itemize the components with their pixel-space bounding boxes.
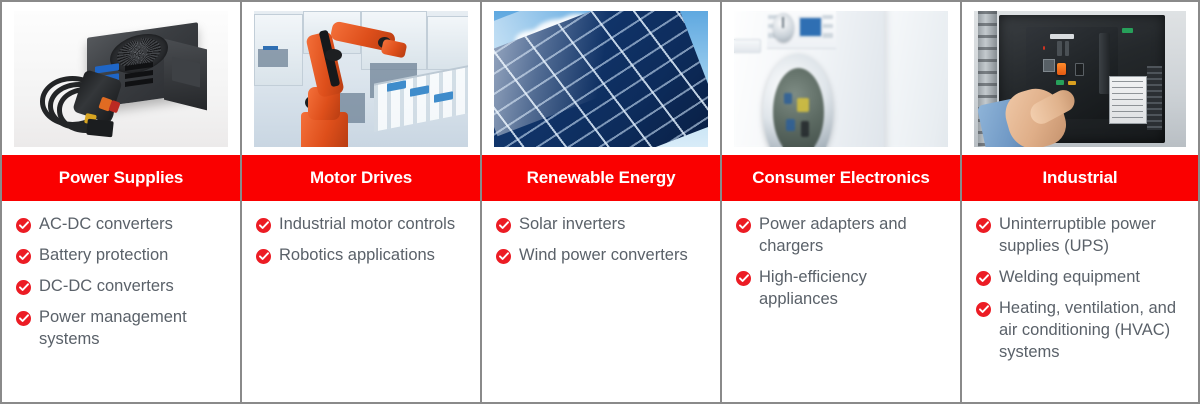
washing-machine-body	[734, 11, 884, 147]
detergent-drawer	[734, 39, 761, 53]
list-item-label: Power management systems	[39, 307, 230, 351]
list-item-label: High-efficiency appliances	[759, 267, 950, 311]
factory-machine	[427, 16, 468, 70]
motor-drives-photo	[254, 11, 468, 147]
photo-cell	[962, 2, 1198, 155]
list-item-label: Solar inverters	[519, 214, 710, 236]
list-item-label: Battery protection	[39, 245, 230, 267]
bullet-list-cell: Power adapters and chargers High-efficie…	[722, 201, 960, 402]
photo-cell	[722, 2, 960, 155]
check-circle-icon	[16, 280, 31, 295]
indicator-strip	[263, 46, 278, 50]
application-column-power-supplies: Power Supplies AC-DC converters Battery …	[0, 2, 240, 402]
check-circle-icon	[736, 218, 751, 233]
robot-arm-joint	[325, 49, 342, 61]
application-column-motor-drives: Motor Drives Industrial motor controls R…	[240, 2, 480, 402]
bullet-list: Industrial motor controls Robotics appli…	[256, 214, 470, 267]
list-item-label: AC-DC converters	[39, 214, 230, 236]
washing-machine-door	[763, 54, 833, 147]
check-circle-icon	[256, 249, 271, 264]
bullet-list: AC-DC converters Battery protection DC-D…	[16, 214, 230, 351]
faceplate-label-strip	[1050, 34, 1074, 39]
laundry-item	[801, 121, 809, 137]
application-column-industrial: Industrial Uninterruptible power supplie…	[960, 2, 1200, 402]
applications-grid: Power Supplies AC-DC converters Battery …	[0, 0, 1200, 404]
photo-cell	[482, 2, 720, 155]
list-item-label: Heating, ventilation, and air conditioni…	[999, 298, 1188, 364]
status-indicator	[1043, 46, 1046, 50]
laundry-item	[784, 93, 792, 104]
psu-black-connector	[86, 118, 113, 137]
list-item: Power management systems	[16, 307, 230, 351]
check-circle-icon	[496, 249, 511, 264]
faceplate-slot	[1065, 41, 1070, 56]
bullet-list: Power adapters and chargers High-efficie…	[736, 214, 950, 311]
rating-label	[1109, 76, 1147, 124]
rating-label-text	[1112, 81, 1143, 120]
bullet-list: Solar inverters Wind power converters	[496, 214, 710, 267]
list-item-label: Robotics applications	[279, 245, 470, 267]
list-item: DC-DC converters	[16, 276, 230, 298]
check-circle-icon	[496, 218, 511, 233]
list-item-label: Welding equipment	[999, 267, 1188, 289]
list-item: Battery protection	[16, 245, 230, 267]
list-item-label: Wind power converters	[519, 245, 710, 267]
industrial-photo	[974, 11, 1186, 147]
column-header-power-supplies: Power Supplies	[2, 155, 240, 201]
green-label-tag	[1122, 28, 1134, 33]
check-circle-icon	[976, 271, 991, 286]
list-item: Power adapters and chargers	[736, 214, 950, 258]
list-item: Industrial motor controls	[256, 214, 470, 236]
column-header-motor-drives: Motor Drives	[242, 155, 480, 201]
column-header-industrial: Industrial	[962, 155, 1198, 201]
control-button	[822, 24, 833, 29]
check-circle-icon	[976, 218, 991, 233]
bullet-list: Uninterruptible power supplies (UPS) Wel…	[976, 214, 1188, 364]
check-circle-icon	[16, 311, 31, 326]
bullet-list-cell: AC-DC converters Battery protection DC-D…	[2, 201, 240, 402]
photo-cell	[242, 2, 480, 155]
control-button	[822, 15, 833, 20]
photo-cell	[2, 2, 240, 155]
laundry-item	[786, 119, 795, 130]
check-circle-icon	[16, 249, 31, 264]
faceplate-slot	[1057, 41, 1062, 56]
list-item-label: Uninterruptible power supplies (UPS)	[999, 214, 1188, 258]
list-item: AC-DC converters	[16, 214, 230, 236]
list-item: Uninterruptible power supplies (UPS)	[976, 214, 1188, 258]
door-glass	[773, 68, 825, 147]
list-item-label: Industrial motor controls	[279, 214, 470, 236]
check-circle-icon	[256, 218, 271, 233]
display-screen	[798, 16, 823, 38]
bullet-list-cell: Uninterruptible power supplies (UPS) Wel…	[962, 201, 1198, 402]
machine-panel	[258, 49, 288, 67]
second-washing-machine	[884, 11, 948, 147]
bullet-list-cell: Solar inverters Wind power converters	[482, 201, 720, 402]
list-item: Heating, ventilation, and air conditioni…	[976, 298, 1188, 364]
control-button	[822, 33, 833, 38]
check-circle-icon	[16, 218, 31, 233]
meter-window	[1043, 59, 1054, 72]
renewable-energy-photo	[494, 11, 708, 147]
list-item: Robotics applications	[256, 245, 470, 267]
column-header-renewable-energy: Renewable Energy	[482, 155, 720, 201]
terminal-block	[1147, 66, 1162, 130]
list-item-label: Power adapters and chargers	[759, 214, 950, 258]
application-column-consumer-electronics: Consumer Electronics Power adapters and …	[720, 2, 960, 402]
application-column-renewable-energy: Renewable Energy Solar inverters Wind po…	[480, 2, 720, 402]
list-item-label: DC-DC converters	[39, 276, 230, 298]
list-item: Welding equipment	[976, 267, 1188, 289]
list-item: Wind power converters	[496, 245, 710, 267]
list-item: Solar inverters	[496, 214, 710, 236]
technician-hand	[982, 71, 1084, 147]
check-circle-icon	[736, 271, 751, 286]
list-item: High-efficiency appliances	[736, 267, 950, 311]
bullet-list-cell: Industrial motor controls Robotics appli…	[242, 201, 480, 402]
power-supply-photo	[14, 11, 228, 147]
column-header-consumer-electronics: Consumer Electronics	[722, 155, 960, 201]
consumer-electronics-photo	[734, 11, 948, 147]
program-dial	[773, 13, 794, 42]
applications-table: Power Supplies AC-DC converters Battery …	[0, 0, 1200, 408]
check-circle-icon	[976, 302, 991, 317]
laundry-item	[797, 98, 808, 112]
